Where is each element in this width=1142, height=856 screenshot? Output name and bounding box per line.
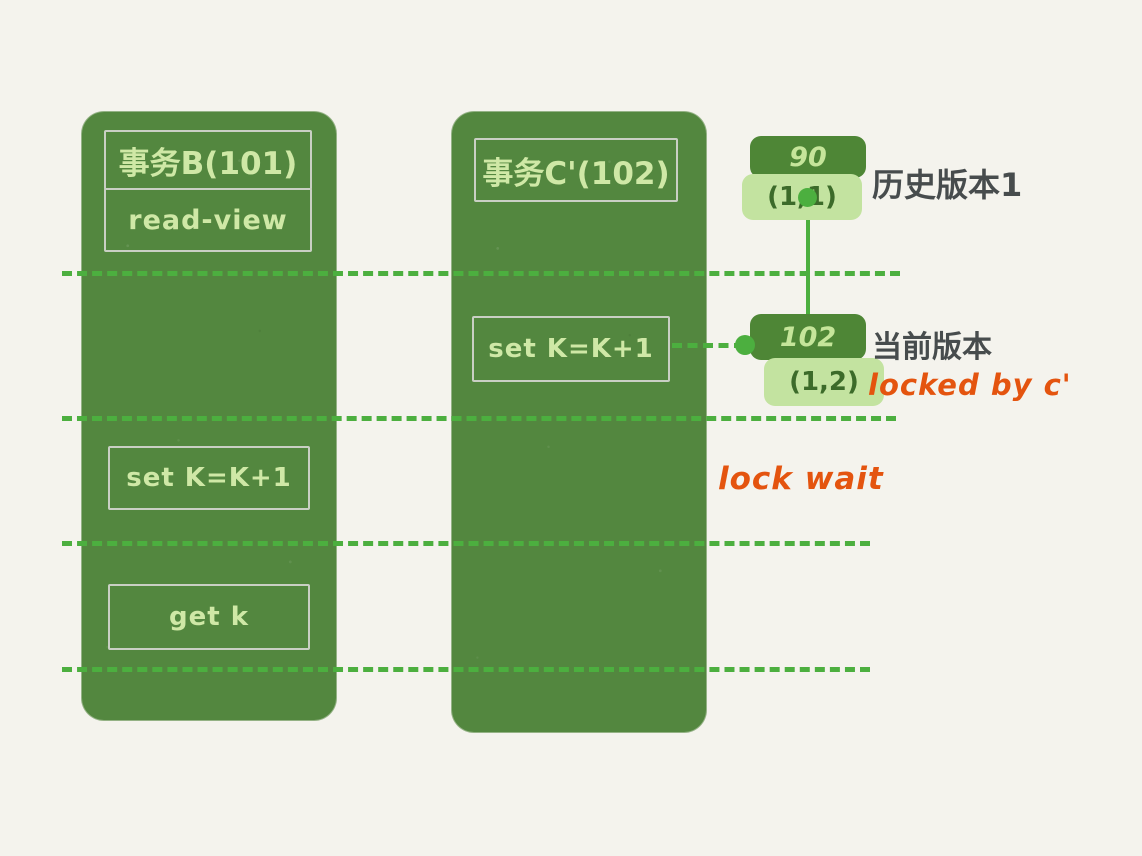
transaction-b-op-read-view: read-view <box>104 188 312 252</box>
row-version-history-1-label: 历史版本1 <box>872 160 1022 206</box>
timeline-rule-2 <box>62 416 896 421</box>
transaction-b-op-get: get k <box>108 584 310 650</box>
row-version-history-1: 90 (1,1) <box>742 136 868 220</box>
timeline-rule-1 <box>62 271 900 276</box>
transaction-c-prime-title: 事务C'(102) <box>474 138 678 202</box>
row-version-history-1-trx-id: 90 <box>750 136 866 178</box>
undo-chain-arrowhead-icon <box>798 188 817 207</box>
transaction-b-title: 事务B(101) <box>104 130 312 190</box>
diagram-canvas: 事务B(101) read-view set K=K+1 get k 事务C'(… <box>0 0 1142 856</box>
set-to-current-version-pointer <box>672 343 744 348</box>
transaction-b-op-set: set K=K+1 <box>108 446 310 510</box>
transaction-panel-c-prime <box>452 112 706 732</box>
row-version-current-trx-id: 102 <box>750 314 866 360</box>
row-version-current-lock-note: locked by c' <box>868 368 1072 402</box>
lock-wait-annotation: lock wait <box>718 461 884 497</box>
row-version-current: 102 (1,2) <box>742 314 872 402</box>
set-pointer-arrowhead-icon <box>735 335 755 355</box>
timeline-rule-4 <box>62 667 870 672</box>
transaction-c-prime-op-set: set K=K+1 <box>472 316 670 382</box>
timeline-rule-3 <box>62 541 870 546</box>
row-version-current-label: 当前版本 <box>872 322 992 366</box>
row-version-current-value: (1,2) <box>764 358 884 406</box>
